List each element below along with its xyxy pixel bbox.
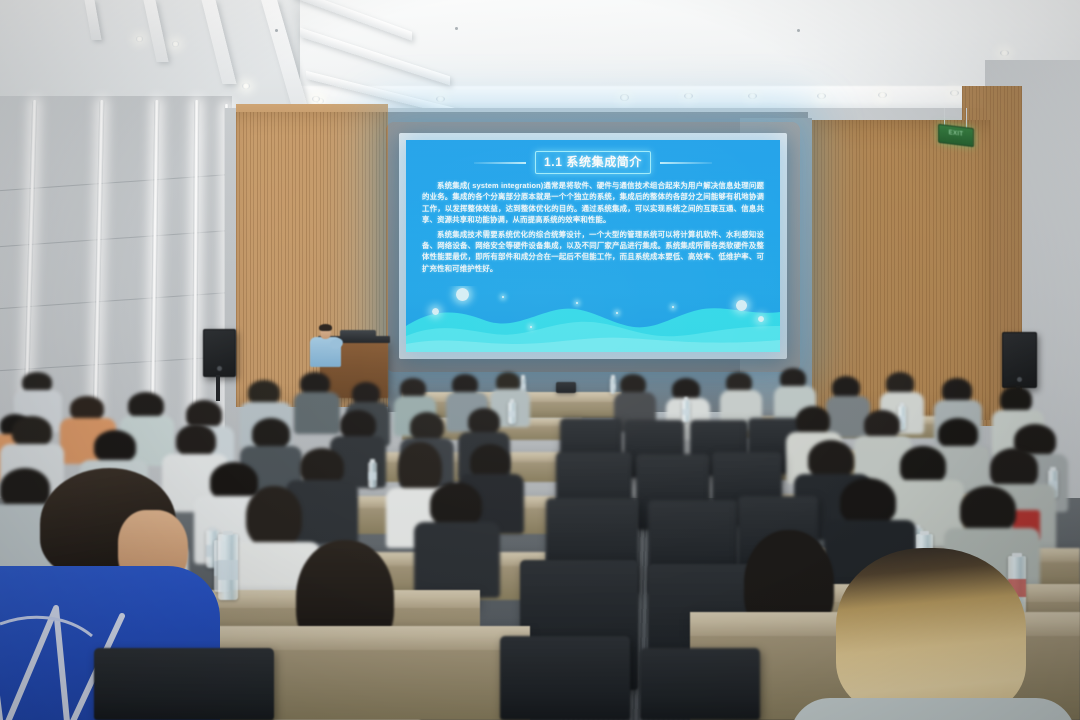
downlight-icon <box>950 90 959 96</box>
slide-spark <box>576 302 578 304</box>
downlight-icon <box>878 92 887 98</box>
chair <box>640 648 760 720</box>
exit-sign-label: EXIT <box>939 125 973 144</box>
slide-spark <box>530 326 532 328</box>
slide-bubble <box>736 300 747 311</box>
chair <box>500 636 630 720</box>
slide-spark <box>616 312 618 314</box>
ceiling-sensor-icon <box>797 29 800 32</box>
water-bottle <box>610 378 616 394</box>
downlight-icon <box>242 83 250 89</box>
title-rule-right <box>660 162 712 164</box>
ceiling-sensor-icon <box>275 29 278 32</box>
person-torso <box>790 698 1076 720</box>
slide-title-row: 1.1 系统集成简介 <box>406 151 780 174</box>
chair <box>94 648 274 720</box>
laptop <box>556 382 576 393</box>
slide-spark <box>672 306 674 308</box>
downlight-icon <box>172 41 179 47</box>
slide-bubble <box>432 308 439 315</box>
downlight-icon <box>1000 50 1009 56</box>
title-rule-left <box>474 162 526 164</box>
podium-equipment <box>340 330 376 340</box>
downlight-icon <box>620 94 629 101</box>
downlight-icon <box>136 36 143 42</box>
slide-paragraph: 系统集成技术需要系统优化的综合统筹设计，一个大型的管理系统可以将计算机软件、水利… <box>422 229 764 275</box>
ceiling-sensor-icon <box>455 27 458 30</box>
presenter-hair <box>319 324 332 331</box>
person-hair-blonde <box>836 548 1026 716</box>
slide-title: 1.1 系统集成简介 <box>544 155 642 169</box>
downlight-icon <box>436 96 445 102</box>
wall-speaker-right <box>1002 332 1037 388</box>
wall-speaker-left <box>203 329 236 377</box>
downlight-icon <box>684 93 693 99</box>
downlight-icon <box>748 93 757 99</box>
water-bottle <box>218 534 238 600</box>
slide-title-box: 1.1 系统集成简介 <box>535 151 651 174</box>
conference-room-photo: EXIT 1.1 系统集成简介 系统集成( system integration… <box>0 0 1080 720</box>
led-screen[interactable]: 1.1 系统集成简介 系统集成( system integration)通常是将… <box>406 140 780 352</box>
water-bottle <box>682 400 690 422</box>
speaker-stand <box>216 375 220 401</box>
downlight-icon <box>312 96 320 102</box>
water-bottle <box>368 462 377 488</box>
slide-bubble <box>456 288 469 301</box>
downlight-icon <box>817 93 826 99</box>
slide-paragraph: 系统集成( system integration)通常是将软件、硬件与通信技术组… <box>422 180 764 226</box>
slide-spark <box>502 296 504 298</box>
water-bottle <box>508 402 516 424</box>
ceiling-slab <box>300 0 1080 96</box>
slide-wave-decoration <box>406 286 780 352</box>
slide-body: 系统集成( system integration)通常是将软件、硬件与通信技术组… <box>422 180 764 277</box>
slide-bubble <box>758 316 764 322</box>
